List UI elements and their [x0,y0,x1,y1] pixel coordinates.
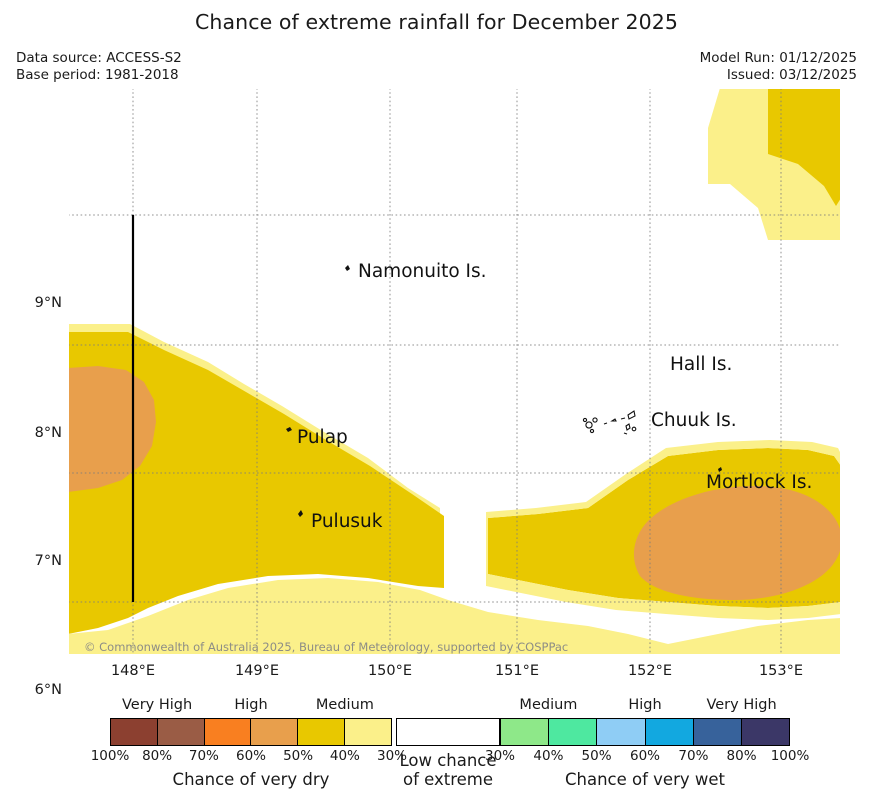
base-period-text: Base period: 1981-2018 [16,67,182,84]
legend-dry-cat-high: High [234,697,267,713]
legend-dry-tick-50: 50% [283,748,313,764]
ytick-7n: 7°N [4,553,62,569]
legend-wet-swatch-60[interactable] [646,719,694,745]
legend-dry-tick-80: 80% [142,748,172,764]
legend-dry-caption: Chance of very dry [110,770,392,789]
ytick-6n: 6°N [4,682,62,698]
ytick-8n: 8°N [4,425,62,441]
legend-low-swatch[interactable] [396,718,500,746]
legend-wet-colorbar[interactable] [500,718,790,746]
map-label-mortlock: Mortlock Is. [706,474,812,493]
page-title: Chance of extreme rainfall for December … [0,10,873,34]
legend-wet-cat-very-high: Very High [706,697,776,713]
ytick-9n: 9°N [4,295,62,311]
map-label-pulusuk: Pulusuk [311,513,383,532]
xtick-153e: 153°E [736,663,826,679]
legend-wet-tick-70: 70% [678,748,708,764]
legend-dry-swatch-50[interactable] [298,719,345,745]
legend-dry-colorbar[interactable] [110,718,392,746]
legend-wet-ticks: 30% 40% 50% 60% 70% 80% 100% [500,748,790,768]
legend-dry-tick-70: 70% [189,748,219,764]
map-plot-area[interactable]: Namonuito Is. Hall Is. Pulap Chuuk Is. P… [68,88,841,655]
legend-wet-swatch-40[interactable] [549,719,597,745]
map-label-namonuito: Namonuito Is. [358,263,487,282]
legend-wet-swatch-70[interactable] [694,719,742,745]
latitude-axis: 9°N 8°N 7°N 6°N [0,88,62,655]
legend-dry-cat-very-high: Very High [122,697,192,713]
metadata-left: Data source: ACCESS-S2 Base period: 1981… [16,50,182,84]
legend-dry-swatch-100[interactable] [111,719,158,745]
legend-very-dry[interactable]: Very High High Medium 100% 80% 70% 60% 5… [110,697,392,768]
issued-text: Issued: 03/12/2025 [700,67,857,84]
xtick-148e: 148°E [88,663,178,679]
legend-wet-tick-60: 60% [630,748,660,764]
legend-wet-swatch-30[interactable] [501,719,549,745]
legend-wet-cat-medium: Medium [519,697,577,713]
legend-dry-tick-60: 60% [236,748,266,764]
legend-wet-categories: Medium High Very High [500,697,790,718]
legend-wet-tick-100: 100% [771,748,810,764]
map-label-hall: Hall Is. [670,356,732,375]
legend-wet-cat-high: High [628,697,661,713]
xtick-150e: 150°E [345,663,435,679]
legend-dry-tick-100: 100% [91,748,130,764]
legend-row: Very High High Medium 100% 80% 70% 60% 5… [0,697,873,804]
legend-dry-tick-40: 40% [330,748,360,764]
legend-wet-swatch-50[interactable] [597,719,645,745]
legend-wet-tick-30: 30% [485,748,515,764]
legend-wet-swatch-80[interactable] [742,719,789,745]
legend-low-spacer [396,697,500,718]
map-label-chuuk: Chuuk Is. [651,412,737,431]
rainfall-outlook-map-page: Chance of extreme rainfall for December … [0,0,873,804]
legend-low-caption-2: of extreme [396,770,500,789]
legend-wet-caption: Chance of very wet [500,770,790,789]
map-label-pulap: Pulap [297,429,348,448]
model-run-text: Model Run: 01/12/2025 [700,50,857,67]
legend-very-wet[interactable]: Medium High Very High 30% 40% 50% 60% 70… [500,697,790,768]
legend-dry-cat-medium: Medium [316,697,374,713]
legend-dry-swatch-60[interactable] [251,719,298,745]
legend-dry-ticks: 100% 80% 70% 60% 50% 40% 30% [110,748,392,768]
map-credit: © Commonwealth of Australia 2025, Bureau… [84,640,568,654]
legend-wet-tick-50: 50% [582,748,612,764]
longitude-axis: 148°E 149°E 150°E 151°E 152°E 153°E [68,663,841,687]
metadata-right: Model Run: 01/12/2025 Issued: 03/12/2025 [700,50,857,84]
legend-dry-categories: Very High High Medium [110,697,392,718]
xtick-152e: 152°E [605,663,695,679]
legend-dry-swatch-70[interactable] [205,719,252,745]
xtick-151e: 151°E [472,663,562,679]
legend-dry-swatch-40[interactable] [345,719,391,745]
data-source-text: Data source: ACCESS-S2 [16,50,182,67]
legend-low-chance[interactable]: Low chance of extreme [396,697,500,746]
legend-wet-tick-40: 40% [533,748,563,764]
legend-dry-swatch-80[interactable] [158,719,205,745]
xtick-149e: 149°E [212,663,302,679]
legend-wet-tick-80: 80% [727,748,757,764]
